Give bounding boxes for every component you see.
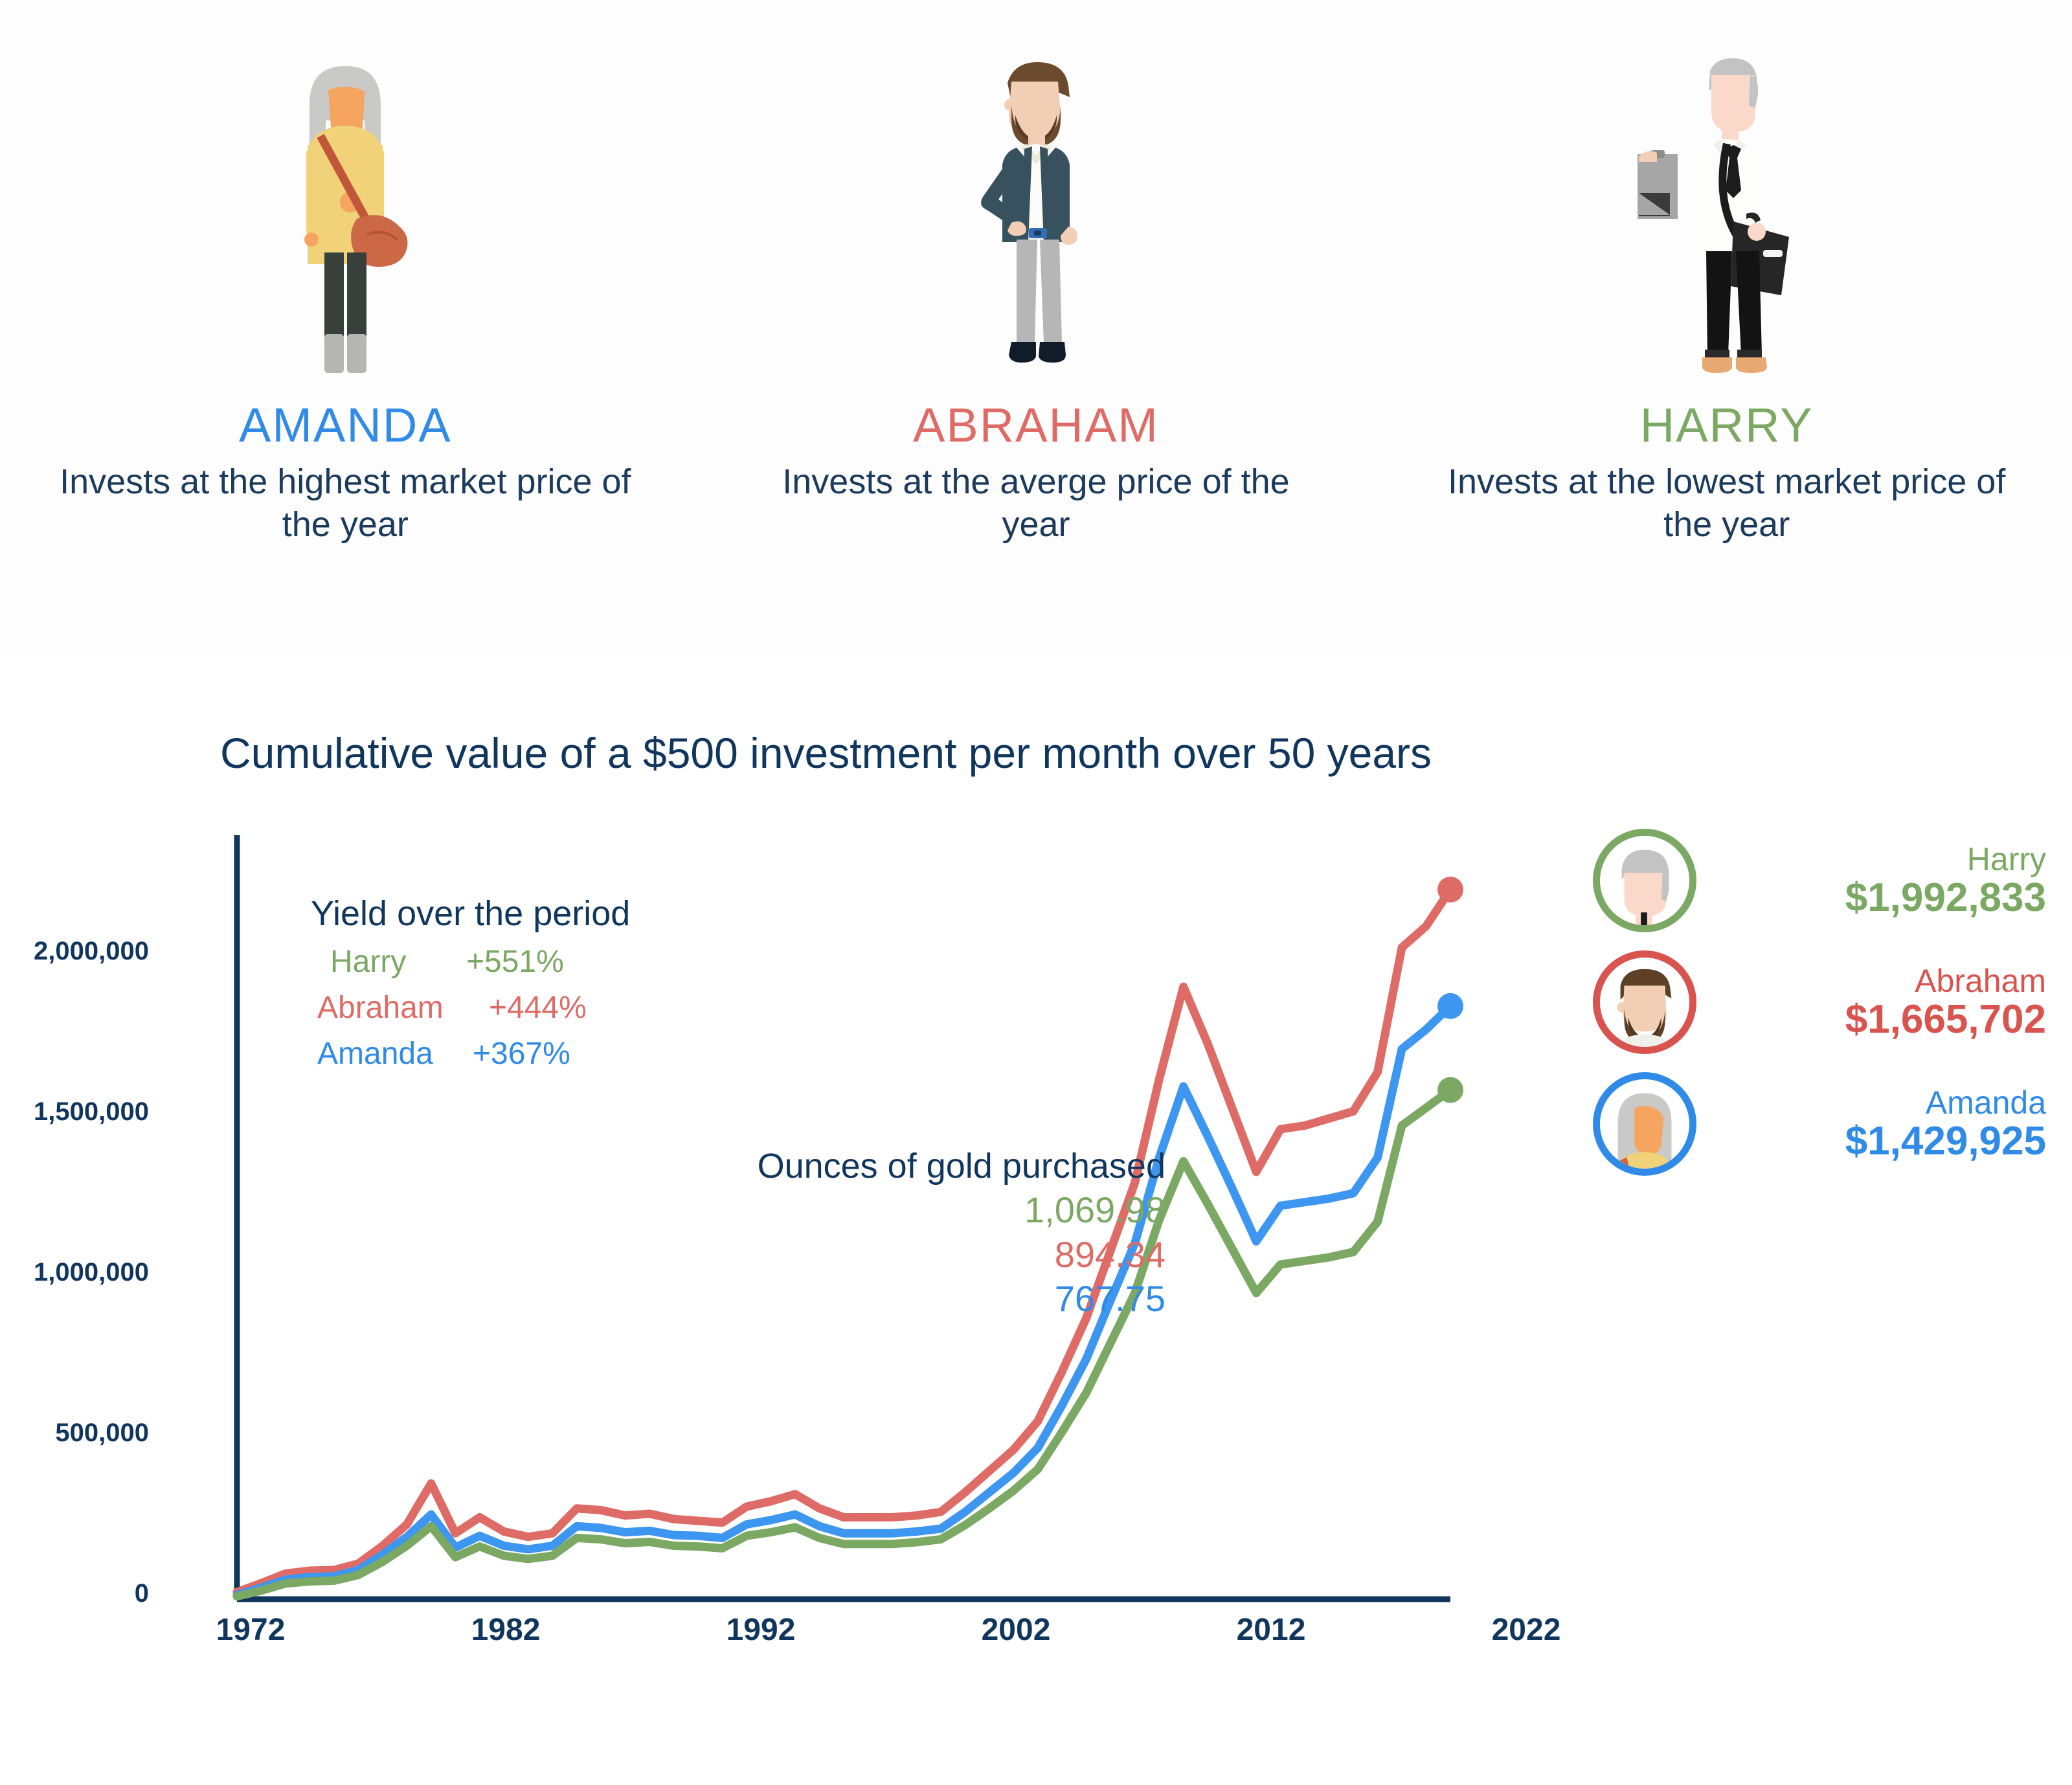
legend-text-amanda: Amanda $1,429,925: [1711, 1086, 2046, 1162]
legend-card-harry[interactable]: Harry $1,992,833: [1593, 829, 2046, 932]
harry-figure-illustration: [1630, 45, 1824, 382]
yield-name-amanda: Amanda: [317, 1036, 473, 1072]
harry-avatar: [1593, 829, 1696, 932]
chart-section: Cumulative value of a $500 investment pe…: [0, 654, 2072, 1785]
series-endpoint-top-line: [1437, 877, 1463, 903]
legend-cards: Harry $1,992,833 Abraham $1,665,702: [1593, 829, 2046, 1194]
ounces-value-amanda: 767.75: [686, 1279, 1165, 1319]
series-endpoint-middle-line: [1437, 993, 1463, 1019]
amanda-avatar: [1593, 1072, 1696, 1176]
yield-value-abraham: +444%: [489, 990, 587, 1026]
legend-text-abraham: Abraham $1,665,702: [1711, 964, 2046, 1040]
persona-amanda: AMANDA Invests at the highest market pri…: [28, 0, 662, 546]
yield-value-harry: +551%: [466, 944, 564, 980]
persona-description-amanda: Invests at the highest market price of t…: [54, 461, 636, 546]
yield-value-amanda: +367%: [473, 1036, 570, 1072]
legend-amount-abraham: $1,665,702: [1711, 998, 2046, 1040]
legend-name-harry: Harry: [1711, 842, 2046, 877]
persona-description-abraham: Invests at the averge price of the year: [745, 461, 1327, 546]
yield-heading: Yield over the period: [311, 893, 803, 934]
persona-band: AMANDA Invests at the highest market pri…: [0, 0, 2072, 654]
persona-name-abraham: ABRAHAM: [913, 401, 1159, 449]
abraham-avatar: [1593, 950, 1696, 1054]
persona-name-amanda: AMANDA: [239, 401, 452, 449]
legend-amount-amanda: $1,429,925: [1711, 1120, 2046, 1162]
legend-card-abraham[interactable]: Abraham $1,665,702: [1593, 950, 2046, 1054]
yield-row-harry: Harry +551%: [330, 944, 803, 980]
legend-text-harry: Harry $1,992,833: [1711, 842, 2046, 919]
yield-name-abraham: Abraham: [317, 990, 489, 1026]
series-endpoint-bottom-line: [1437, 1077, 1463, 1103]
persona-abraham: ABRAHAM Invests at the averge price of t…: [719, 0, 1353, 546]
yield-name-harry: Harry: [330, 944, 466, 980]
chart-title: Cumulative value of a $500 investment pe…: [220, 728, 1432, 778]
persona-name-harry: HARRY: [1640, 401, 1814, 449]
amanda-figure-illustration: [248, 45, 442, 382]
yield-row-abraham: Abraham +444%: [317, 990, 803, 1026]
persona-description-harry: Invests at the lowest market price of th…: [1436, 461, 2018, 546]
abraham-figure-illustration: [939, 45, 1133, 382]
ounces-value-harry: 1,069.98: [686, 1190, 1165, 1231]
yield-over-period-block: Yield over the period Harry +551% Abraha…: [311, 893, 803, 1072]
persona-harry: HARRY Invests at the lowest market price…: [1410, 0, 2044, 546]
ounces-of-gold-block: Ounces of gold purchased 1,069.98 894.34…: [686, 1146, 1165, 1319]
ounces-value-abraham: 894.34: [686, 1235, 1165, 1275]
legend-amount-harry: $1,992,833: [1711, 877, 2046, 919]
yield-row-amanda: Amanda +367%: [317, 1036, 803, 1072]
legend-card-amanda[interactable]: Amanda $1,429,925: [1593, 1072, 2046, 1176]
legend-name-amanda: Amanda: [1711, 1086, 2046, 1120]
ounces-heading: Ounces of gold purchased: [686, 1146, 1165, 1186]
legend-name-abraham: Abraham: [1711, 964, 2046, 998]
